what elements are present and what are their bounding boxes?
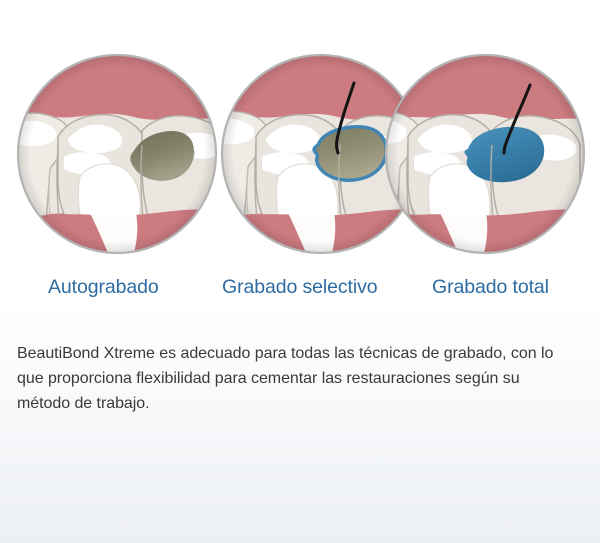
tooth-panel-self-etch: [16, 53, 218, 255]
illustration-page: Autograbado Grabado selectivo Grabado to…: [0, 0, 600, 543]
caption-self-etch: Autograbado: [48, 274, 159, 300]
etching-technique-figure-row: [16, 53, 586, 255]
tooth-cavity-self-etch-icon: [16, 53, 218, 255]
caption-total-etch: Grabado total: [432, 274, 549, 300]
caption-selective-etch: Grabado selectivo: [222, 274, 377, 300]
tooth-panel-total-etch: [384, 53, 586, 255]
caption-row: Autograbado Grabado selectivo Grabado to…: [0, 274, 600, 302]
description-paragraph: BeautiBond Xtreme es adecuado para todas…: [17, 341, 573, 416]
tooth-cavity-total-etch-icon: [384, 53, 586, 255]
